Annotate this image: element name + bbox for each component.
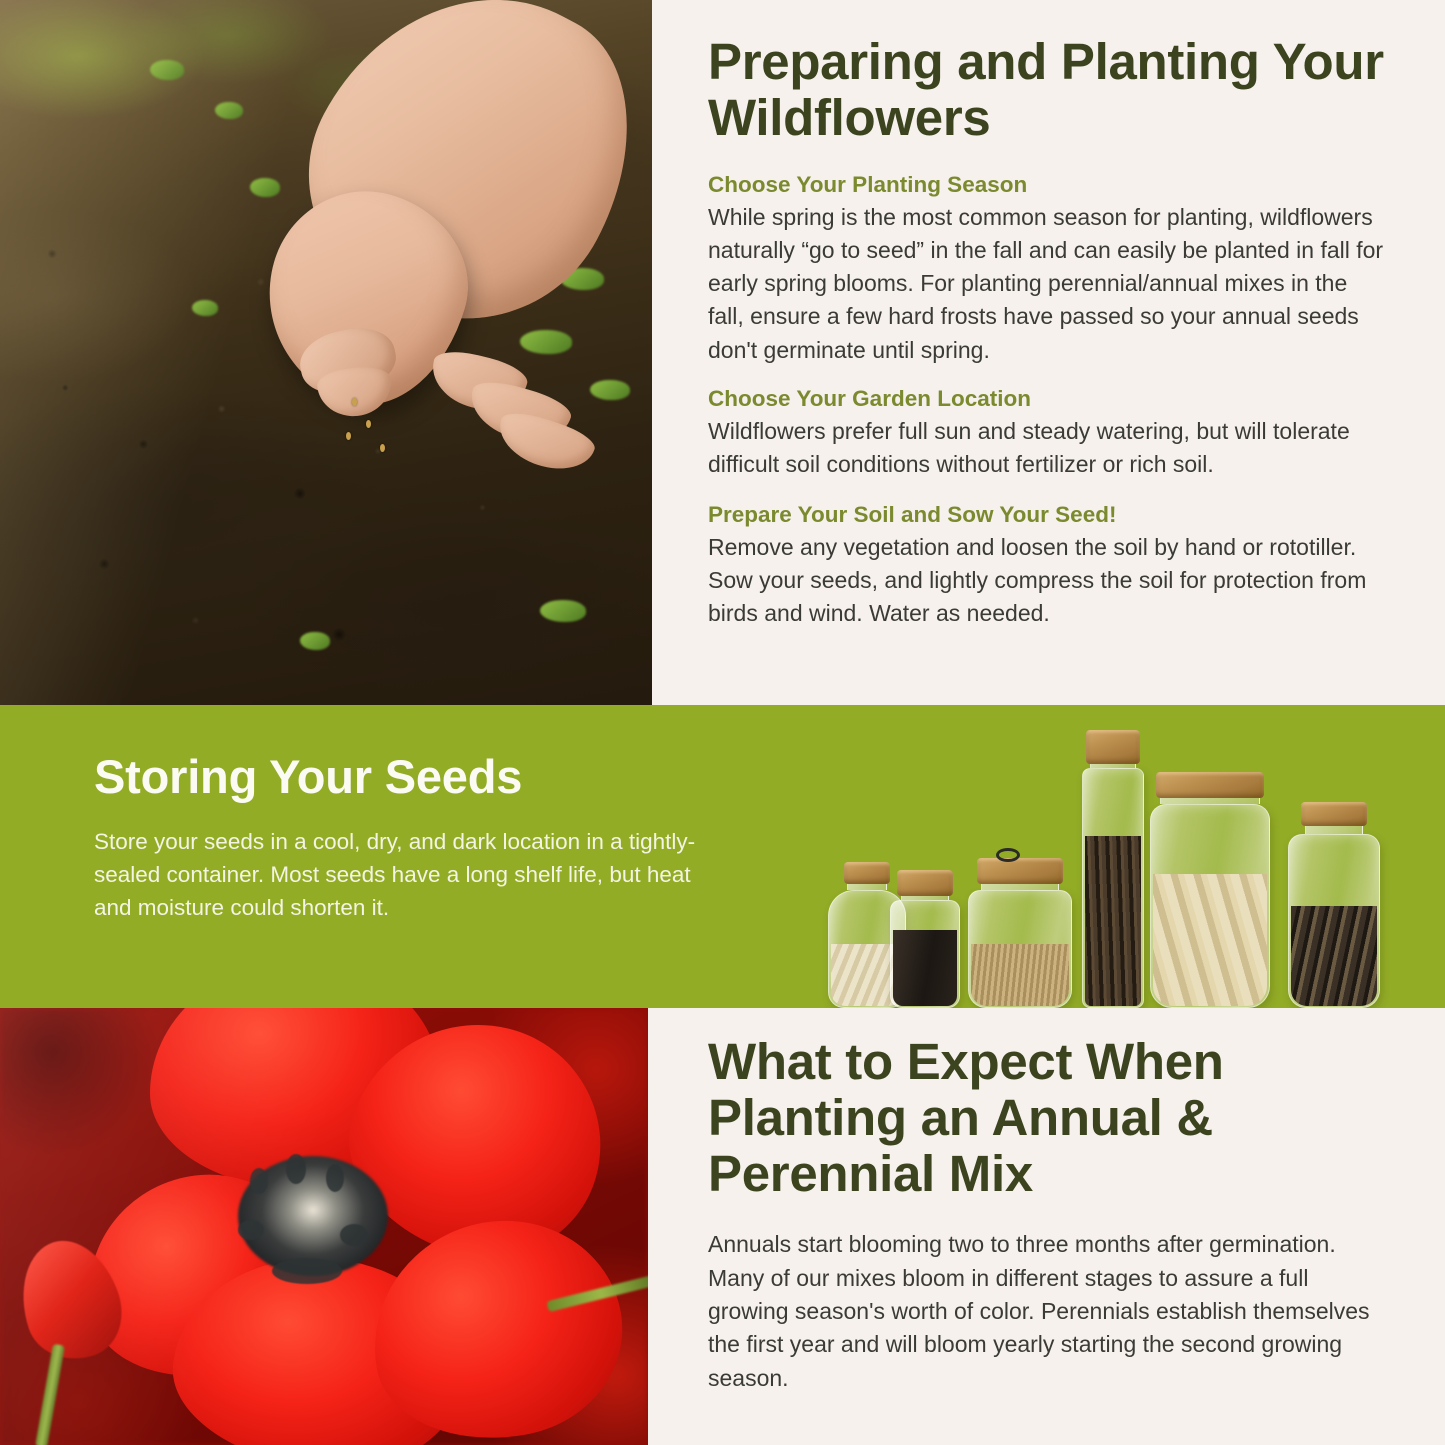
paragraph-garden-location: Wildflowers prefer full sun and steady w… xyxy=(708,415,1389,481)
storing-paragraph: Store your seeds in a cool, dry, and dar… xyxy=(94,826,734,925)
photo-highlight xyxy=(0,0,652,705)
photo-highlight xyxy=(0,1008,648,1445)
jar-sunflower-seeds xyxy=(1288,812,1380,1008)
expect-text-column: What to Expect When Planting an Annual &… xyxy=(648,1008,1445,1445)
seed-jars-image xyxy=(828,741,1388,1008)
expect-heading: What to Expect When Planting an Annual &… xyxy=(708,1034,1387,1202)
jar-black-seeds xyxy=(890,880,960,1008)
paragraph-planting-season: While spring is the most common season f… xyxy=(708,201,1389,367)
storing-text-column: Storing Your Seeds Store your seeds in a… xyxy=(94,749,734,925)
red-poppy-image xyxy=(0,1008,648,1445)
subheading-planting-season: Choose Your Planting Season xyxy=(708,171,1389,198)
storing-seeds-section: Storing Your Seeds Store your seeds in a… xyxy=(0,705,1445,1008)
jar-pumpkin-seeds xyxy=(1150,782,1270,1008)
paragraph-prepare-soil: Remove any vegetation and loosen the soi… xyxy=(708,531,1389,630)
subheading-garden-location: Choose Your Garden Location xyxy=(708,385,1389,412)
planting-text-column: Preparing and Planting Your Wildflowers … xyxy=(652,0,1445,705)
expect-paragraph: Annuals start blooming two to three mont… xyxy=(708,1228,1387,1395)
planting-section: Preparing and Planting Your Wildflowers … xyxy=(0,0,1445,705)
subheading-prepare-soil: Prepare Your Soil and Sow Your Seed! xyxy=(708,501,1389,528)
what-to-expect-section: What to Expect When Planting an Annual &… xyxy=(0,1008,1445,1445)
storing-heading: Storing Your Seeds xyxy=(94,749,734,804)
page-title: Preparing and Planting Your Wildflowers xyxy=(708,34,1389,145)
jar-dark-seeds-tube xyxy=(1082,746,1144,1008)
jar-fine-tan-seeds xyxy=(968,868,1072,1008)
hand-sowing-seeds-image xyxy=(0,0,652,705)
